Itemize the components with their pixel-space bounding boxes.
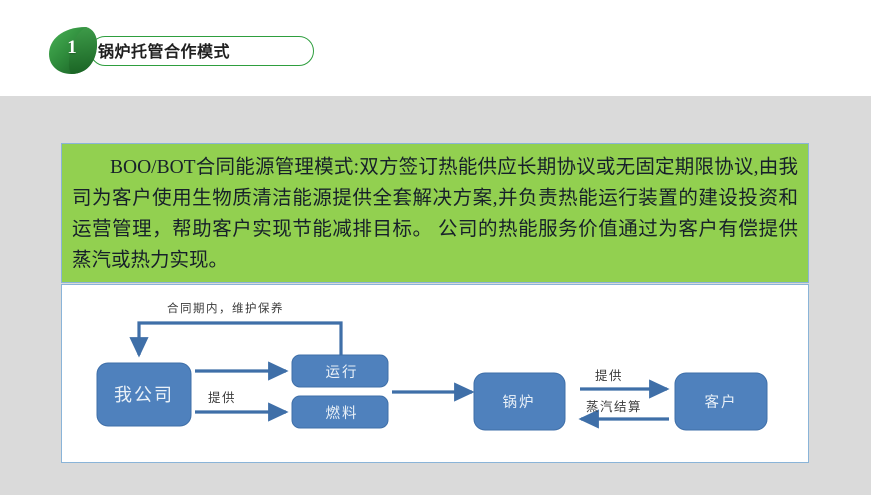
description-callout-box: BOO/BOT合同能源管理模式:双方签订热能供应长期协议或无固定期限协议,由我司… <box>61 143 809 283</box>
node-company[interactable]: 我公司 <box>97 363 191 426</box>
node-label-boiler: 锅炉 <box>503 394 536 411</box>
section-title-badge: 1 锅炉托管合作模式 <box>42 24 342 76</box>
edge-label-maintenance: 合同期内，维护保养 <box>167 301 284 315</box>
edge-label-steam-settlement: 蒸汽结算 <box>586 399 642 414</box>
edge-label-provide-fuel: 提供 <box>208 390 236 405</box>
node-label-fuel: 燃料 <box>326 404 359 422</box>
node-label-operation: 运行 <box>326 364 359 381</box>
flow-diagram-panel: 合同期内，维护保养 我公司 提供 运行 燃料 <box>61 284 809 463</box>
node-label-company: 我公司 <box>114 385 174 406</box>
flow-diagram: 合同期内，维护保养 我公司 提供 运行 燃料 <box>62 285 807 461</box>
node-label-customer: 客户 <box>705 394 738 411</box>
node-fuel[interactable]: 燃料 <box>292 396 388 428</box>
description-text: BOO/BOT合同能源管理模式:双方签订热能供应长期协议或无固定期限协议,由我司… <box>72 152 798 276</box>
node-operation[interactable]: 运行 <box>292 355 388 387</box>
edge-customer-boiler: 蒸汽结算 <box>581 399 669 419</box>
edge-company-fuel: 提供 <box>195 390 286 412</box>
badge-number: 1 <box>61 37 83 59</box>
edge-label-provide-steam: 提供 <box>595 368 623 383</box>
page-title: 锅炉托管合作模式 <box>98 38 230 62</box>
edge-boiler-customer: 提供 <box>580 368 667 389</box>
node-customer[interactable]: 客户 <box>675 373 767 430</box>
node-boiler[interactable]: 锅炉 <box>474 373 565 430</box>
edge-maintenance-loop: 合同期内，维护保养 <box>139 301 341 356</box>
